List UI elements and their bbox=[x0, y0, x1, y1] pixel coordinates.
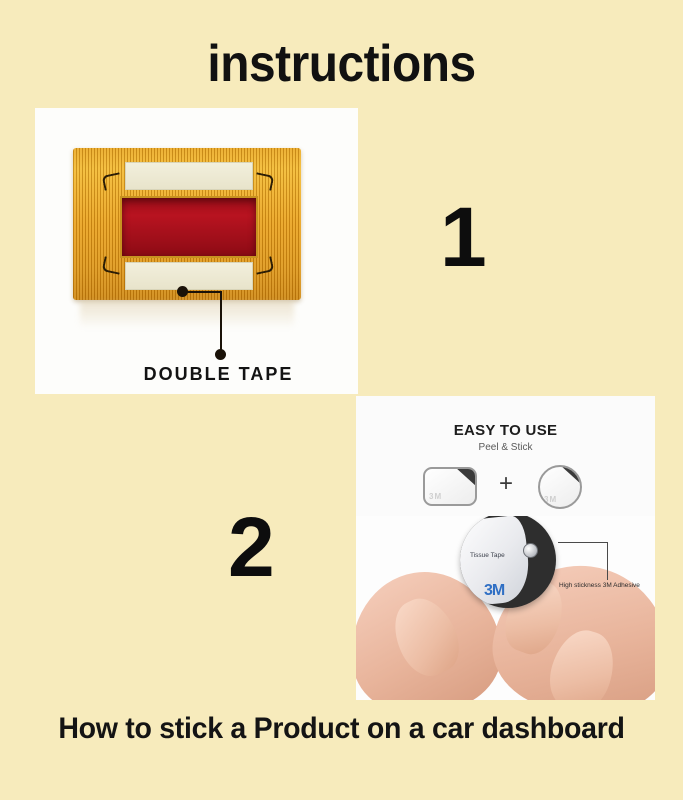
peel-flap-icon-rect bbox=[455, 467, 477, 487]
callout-line-vertical bbox=[220, 291, 222, 351]
callout-line-horizontal bbox=[185, 291, 221, 293]
tissue-tape-label: Tissue Tape bbox=[470, 552, 505, 559]
adhesive-pad-row: 3M + 3M bbox=[356, 462, 655, 510]
step-2-number: 2 bbox=[228, 505, 273, 589]
rectangular-adhesive-pad-icon: 3M bbox=[423, 467, 477, 506]
easy-to-use-heading: EASY TO USE bbox=[356, 422, 655, 439]
plus-icon: + bbox=[499, 472, 513, 496]
circular-adhesive-pad-icon: 3M bbox=[538, 465, 582, 509]
corner-clip-bottom-right bbox=[254, 256, 275, 274]
gold-frame bbox=[73, 148, 301, 300]
tape-strip-bottom bbox=[125, 262, 253, 290]
corner-clip-bottom-left bbox=[102, 256, 123, 274]
step-2-image-panel: EASY TO USE Peel & Stick 3M + 3M 3M ADHE… bbox=[356, 396, 655, 700]
disc-callout-line-horizontal bbox=[558, 542, 608, 543]
tape-strip-top bbox=[125, 162, 253, 190]
framed-product-photo: DOUBLE TAPE bbox=[35, 108, 358, 394]
frame-red-inset bbox=[120, 196, 258, 258]
disc-center-dot bbox=[523, 543, 538, 558]
disc-brand-bottom: 3M bbox=[484, 582, 504, 600]
step-1-number: 1 bbox=[440, 195, 485, 279]
pad-brand-text-rect: 3M bbox=[429, 492, 442, 501]
page-title: instructions bbox=[27, 38, 655, 90]
peel-flap-icon-circle bbox=[560, 465, 582, 485]
high-stickness-label: High stickness 3M Adhesive bbox=[559, 582, 640, 589]
frame-reflection bbox=[80, 301, 294, 327]
corner-clip-top-left bbox=[102, 172, 123, 190]
step-1-image-panel: DOUBLE TAPE bbox=[35, 108, 358, 394]
circular-3m-adhesive-disc: 3M Tissue Tape 3M bbox=[460, 516, 556, 608]
bottom-caption: How to stick a Product on a car dashboar… bbox=[17, 712, 666, 746]
callout-dot-lower bbox=[215, 349, 226, 360]
hands-peeling-scene: 3M Tissue Tape 3M High stickness 3M Adhe… bbox=[356, 516, 655, 700]
peel-and-stick-subheading: Peel & Stick bbox=[356, 442, 655, 453]
disc-callout-line-vertical bbox=[607, 542, 608, 580]
left-thumb bbox=[383, 589, 469, 684]
pad-brand-text-circle: 3M bbox=[544, 495, 557, 504]
corner-clip-top-right bbox=[254, 172, 275, 190]
double-tape-label: DOUBLE TAPE bbox=[57, 364, 358, 385]
